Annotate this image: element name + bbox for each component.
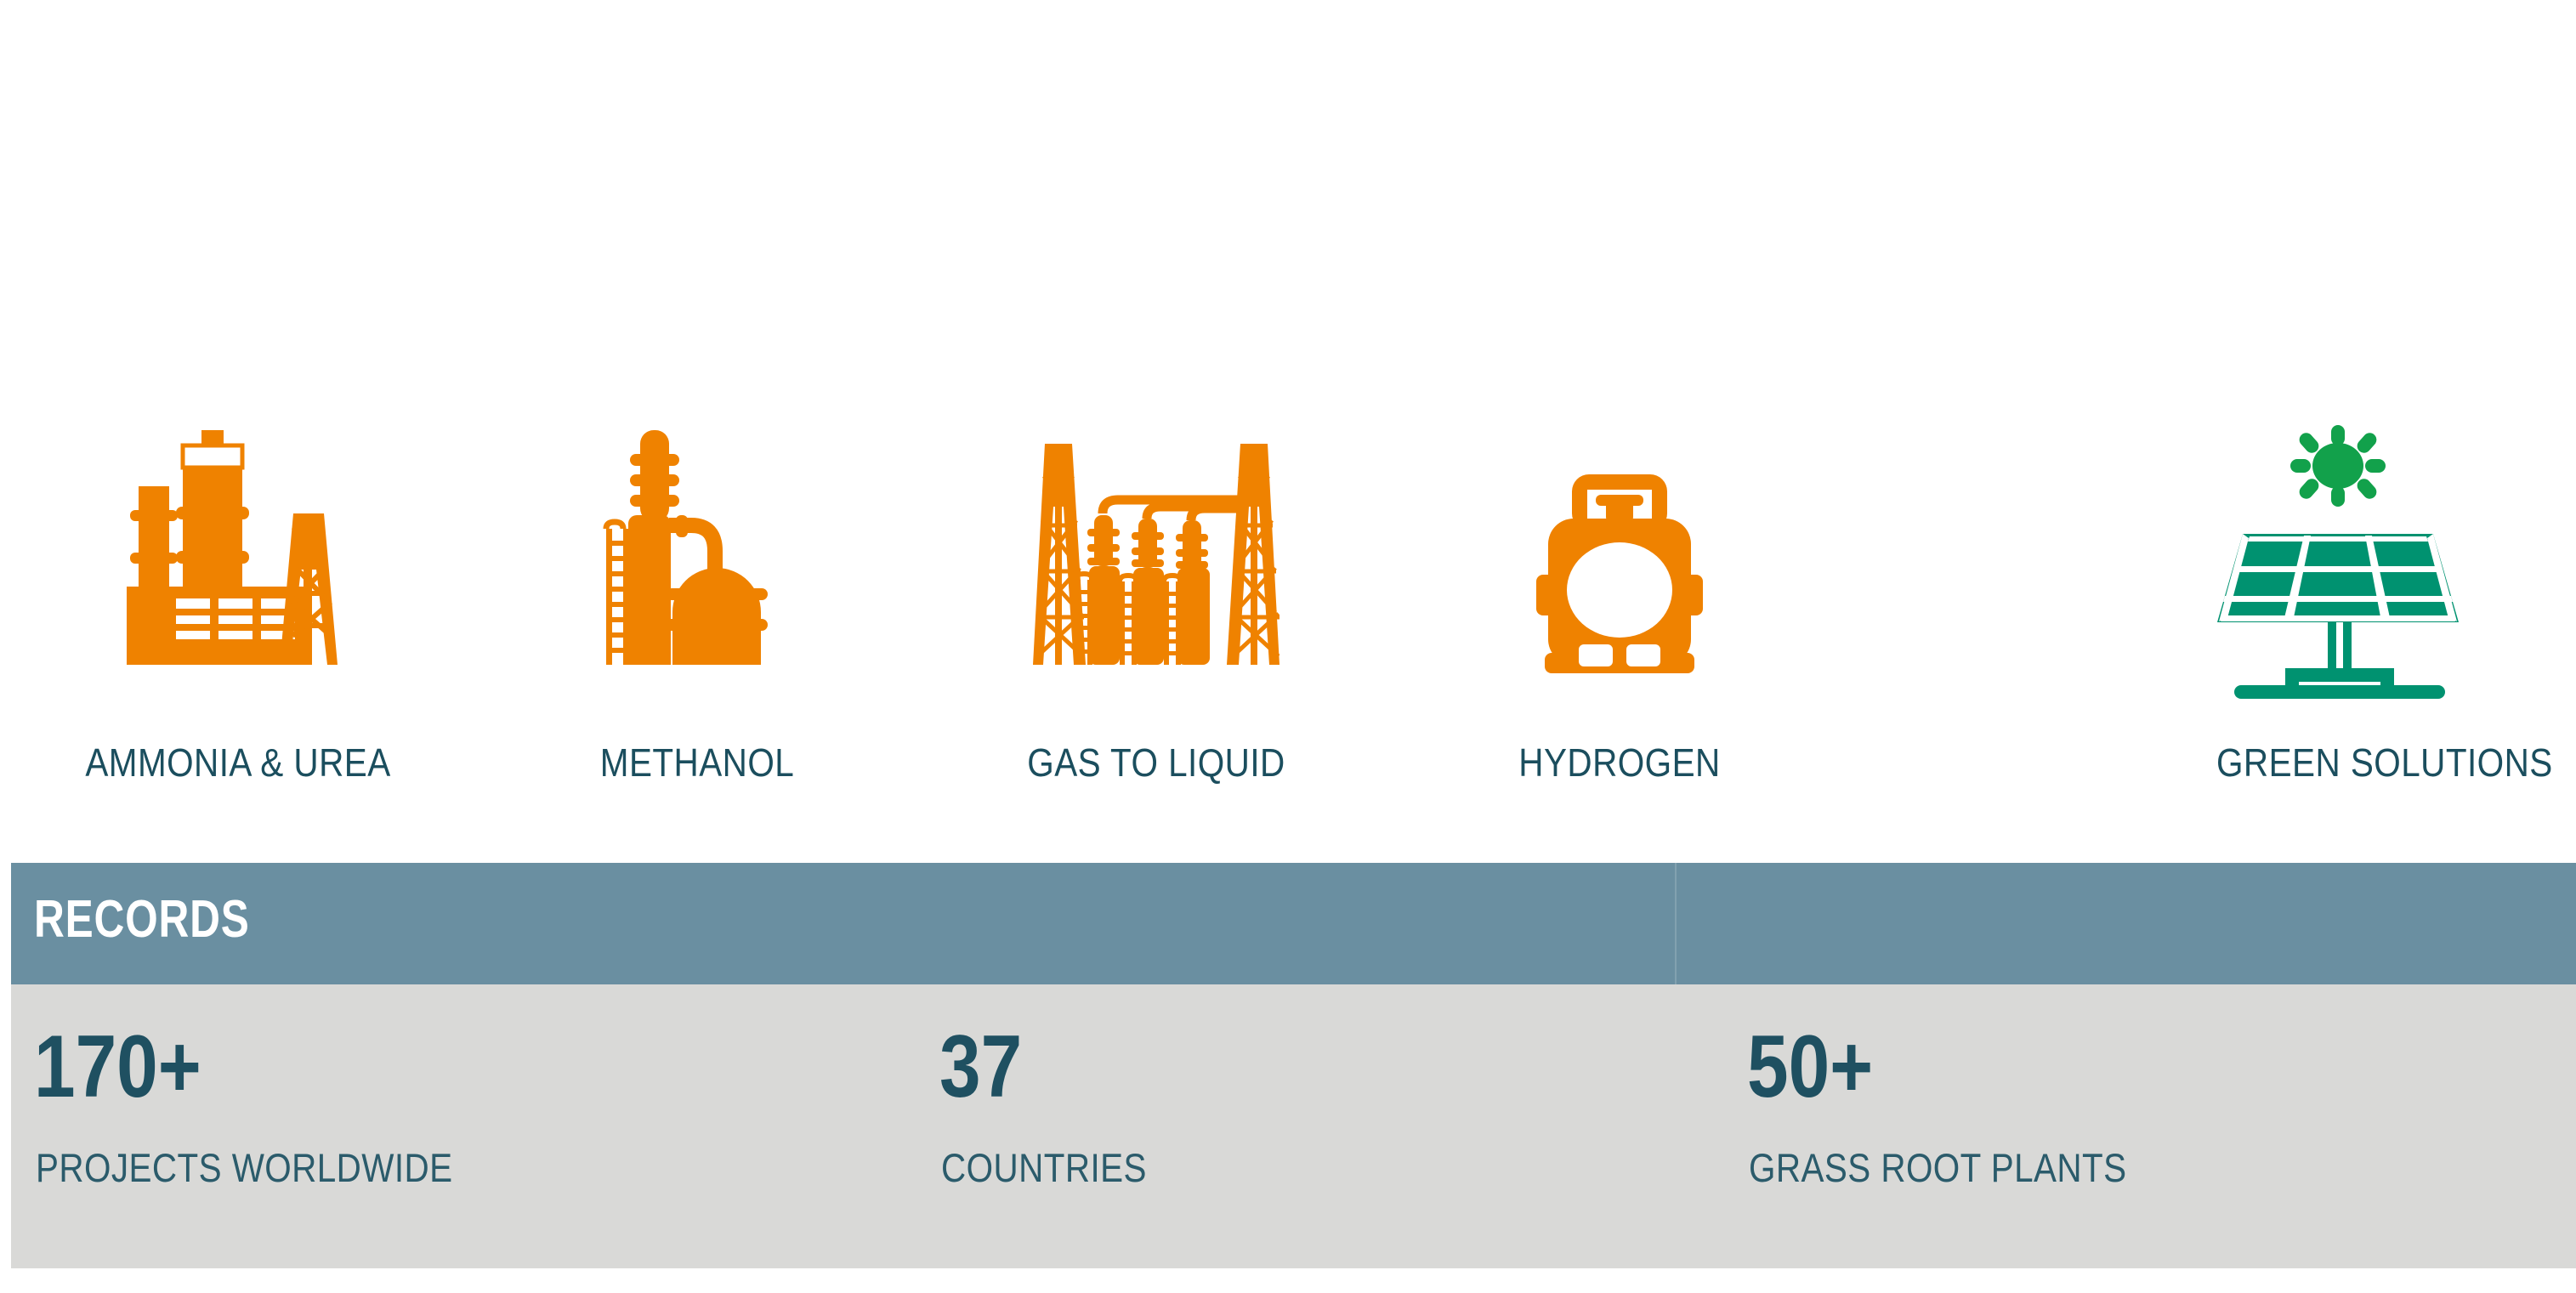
methanol-plant-icon (591, 425, 803, 710)
category-methanol[interactable]: METHANOL (476, 0, 918, 850)
stat-grass-root-plants: 50+ GRASS ROOT PLANTS (1747, 984, 2555, 1268)
category-label: GREEN SOLUTIONS (2193, 741, 2576, 784)
category-icon-row: AMMONIA & UREA (0, 0, 2576, 850)
solar-panel-sun-icon (2210, 425, 2465, 710)
category-label: AMMONIA & UREA (65, 741, 411, 784)
category-label: GAS TO LIQUID (1010, 741, 1303, 784)
stat-projects-worldwide: 170+ PROJECTS WORLDWIDE (34, 984, 884, 1268)
ammonia-urea-plant-icon (123, 425, 353, 710)
category-gas-to-liquid[interactable]: GAS TO LIQUID (918, 0, 1394, 850)
category-green-solutions[interactable]: GREEN SOLUTIONS (1845, 0, 2576, 850)
gas-to-liquid-plant-icon (1033, 425, 1279, 710)
stat-value: 170+ (34, 1020, 233, 1114)
stat-countries: 37 COUNTRIES (939, 984, 1705, 1268)
banner-divider (1675, 863, 1677, 984)
stat-label: COUNTRIES (941, 1146, 1180, 1190)
stat-label: GRASS ROOT PLANTS (1749, 1146, 2188, 1190)
category-ammonia-urea[interactable]: AMMONIA & UREA (0, 0, 476, 850)
hydrogen-cylinder-icon (1526, 425, 1713, 710)
stat-value: 50+ (1747, 1020, 1897, 1114)
records-stats-panel: 170+ PROJECTS WORLDWIDE 37 COUNTRIES 50+… (11, 984, 2576, 1268)
records-banner: RECORDS (11, 863, 2576, 984)
category-hydrogen[interactable]: HYDROGEN (1394, 0, 1845, 850)
category-label: HYDROGEN (1505, 741, 1734, 784)
category-label: METHANOL (587, 741, 808, 784)
stat-label: PROJECTS WORLDWIDE (36, 1146, 520, 1190)
stat-value: 37 (939, 1020, 1038, 1114)
records-title: RECORDS (34, 890, 304, 950)
